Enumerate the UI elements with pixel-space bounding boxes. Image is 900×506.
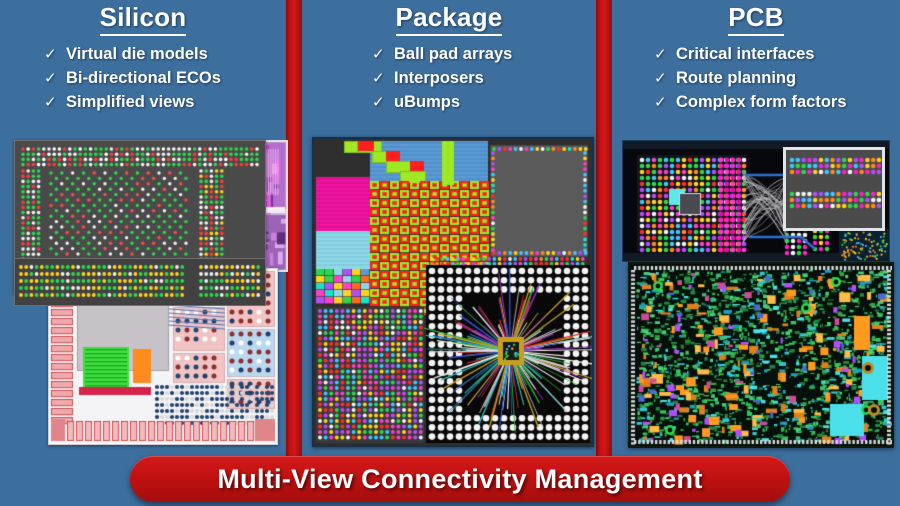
- column-title-silicon: Silicon: [0, 2, 286, 36]
- check-icon: ✓: [44, 92, 56, 113]
- column-divider-left: [286, 0, 302, 470]
- check-icon: ✓: [372, 44, 384, 65]
- bullet-text: Ball pad arrays: [394, 44, 512, 65]
- package-substrate-view: [312, 137, 594, 447]
- check-icon: ✓: [654, 92, 666, 113]
- banner-title-text: Multi-View Connectivity Management: [217, 464, 702, 495]
- bullet-text: Route planning: [676, 68, 796, 89]
- bullet-text: Simplified views: [66, 92, 194, 113]
- check-icon: ✓: [654, 68, 666, 89]
- column-title-silicon-text: Silicon: [100, 2, 187, 36]
- bullet-list-package: ✓ Ball pad arrays ✓ Interposers ✓ uBumps: [372, 44, 596, 113]
- title-banner: Multi-View Connectivity Management: [130, 456, 790, 502]
- column-title-pcb-text: PCB: [728, 2, 784, 36]
- column-title-pcb: PCB: [612, 2, 900, 36]
- pcb-zoom-inset-panel: [783, 147, 885, 231]
- silicon-pad-strip-view: [14, 258, 266, 306]
- bullet-item: ✓ Ball pad arrays: [372, 44, 596, 65]
- bullet-item: ✓ Virtual die models: [44, 44, 286, 65]
- bullet-item: ✓ Interposers: [372, 68, 596, 89]
- bullet-item: ✓ Critical interfaces: [654, 44, 900, 65]
- check-icon: ✓: [44, 68, 56, 89]
- pcb-pad-array-view: [622, 140, 890, 262]
- bullet-item: ✓ Route planning: [654, 68, 900, 89]
- bullet-text: Interposers: [394, 68, 484, 89]
- bullet-list-silicon: ✓ Virtual die models ✓ Bi-directional EC…: [44, 44, 286, 113]
- bullet-text: Complex form factors: [676, 92, 847, 113]
- pcb-board-layout-view: [628, 262, 894, 448]
- check-icon: ✓: [372, 92, 384, 113]
- column-title-package: Package: [302, 2, 596, 36]
- bullet-text: uBumps: [394, 92, 460, 113]
- check-icon: ✓: [654, 44, 666, 65]
- column-title-package-text: Package: [396, 2, 503, 36]
- bullet-text: Critical interfaces: [676, 44, 814, 65]
- column-divider-right: [596, 0, 612, 470]
- check-icon: ✓: [372, 68, 384, 89]
- bullet-text: Bi-directional ECOs: [66, 68, 221, 89]
- bullet-item: ✓ uBumps: [372, 92, 596, 113]
- bullet-item: ✓ Complex form factors: [654, 92, 900, 113]
- slide-canvas: Silicon ✓ Virtual die models ✓ Bi-direct…: [0, 0, 900, 506]
- bullet-text: Virtual die models: [66, 44, 208, 65]
- bullet-item: ✓ Simplified views: [44, 92, 286, 113]
- bullet-list-pcb: ✓ Critical interfaces ✓ Route planning ✓…: [654, 44, 900, 113]
- bullet-item: ✓ Bi-directional ECOs: [44, 68, 286, 89]
- check-icon: ✓: [44, 44, 56, 65]
